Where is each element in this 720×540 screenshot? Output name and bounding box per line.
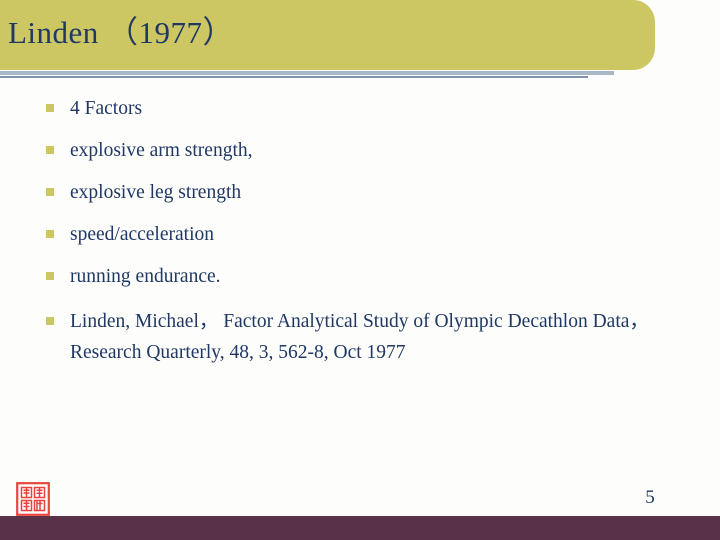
square-bullet-icon [46,104,54,112]
slide: Linden （1977） 4 Factors explosive arm st… [0,0,720,540]
list-item: 4 Factors [44,96,704,121]
square-bullet-icon [46,146,54,154]
list-item-citation: Linden, Michael， Factor Analytical Study… [44,306,704,368]
list-item-label: explosive arm strength, [70,138,704,163]
list-item: explosive leg strength [44,180,704,205]
square-bullet-icon [46,272,54,280]
bullet-list: 4 Factors explosive arm strength, explos… [44,96,704,368]
divider-rule-thin [0,76,588,78]
list-item: explosive arm strength, [44,138,704,163]
square-bullet-icon [46,188,54,196]
list-item-label: speed/acceleration [70,222,704,247]
list-item: running endurance. [44,264,704,289]
list-item-label: explosive leg strength [70,180,704,205]
footer-bar [0,516,720,540]
citation-label: Linden, Michael， Factor Analytical Study… [70,306,704,368]
list-item-label: running endurance. [70,264,704,289]
page-title: Linden （1977） [8,13,234,53]
red-seal-stamp-icon [16,482,50,516]
list-item-label: 4 Factors [70,96,704,121]
square-bullet-icon [46,230,54,238]
list-item: speed/acceleration [44,222,704,247]
page-number: 5 [630,486,670,510]
divider-rule-thick [0,71,614,75]
square-bullet-icon [46,317,54,325]
